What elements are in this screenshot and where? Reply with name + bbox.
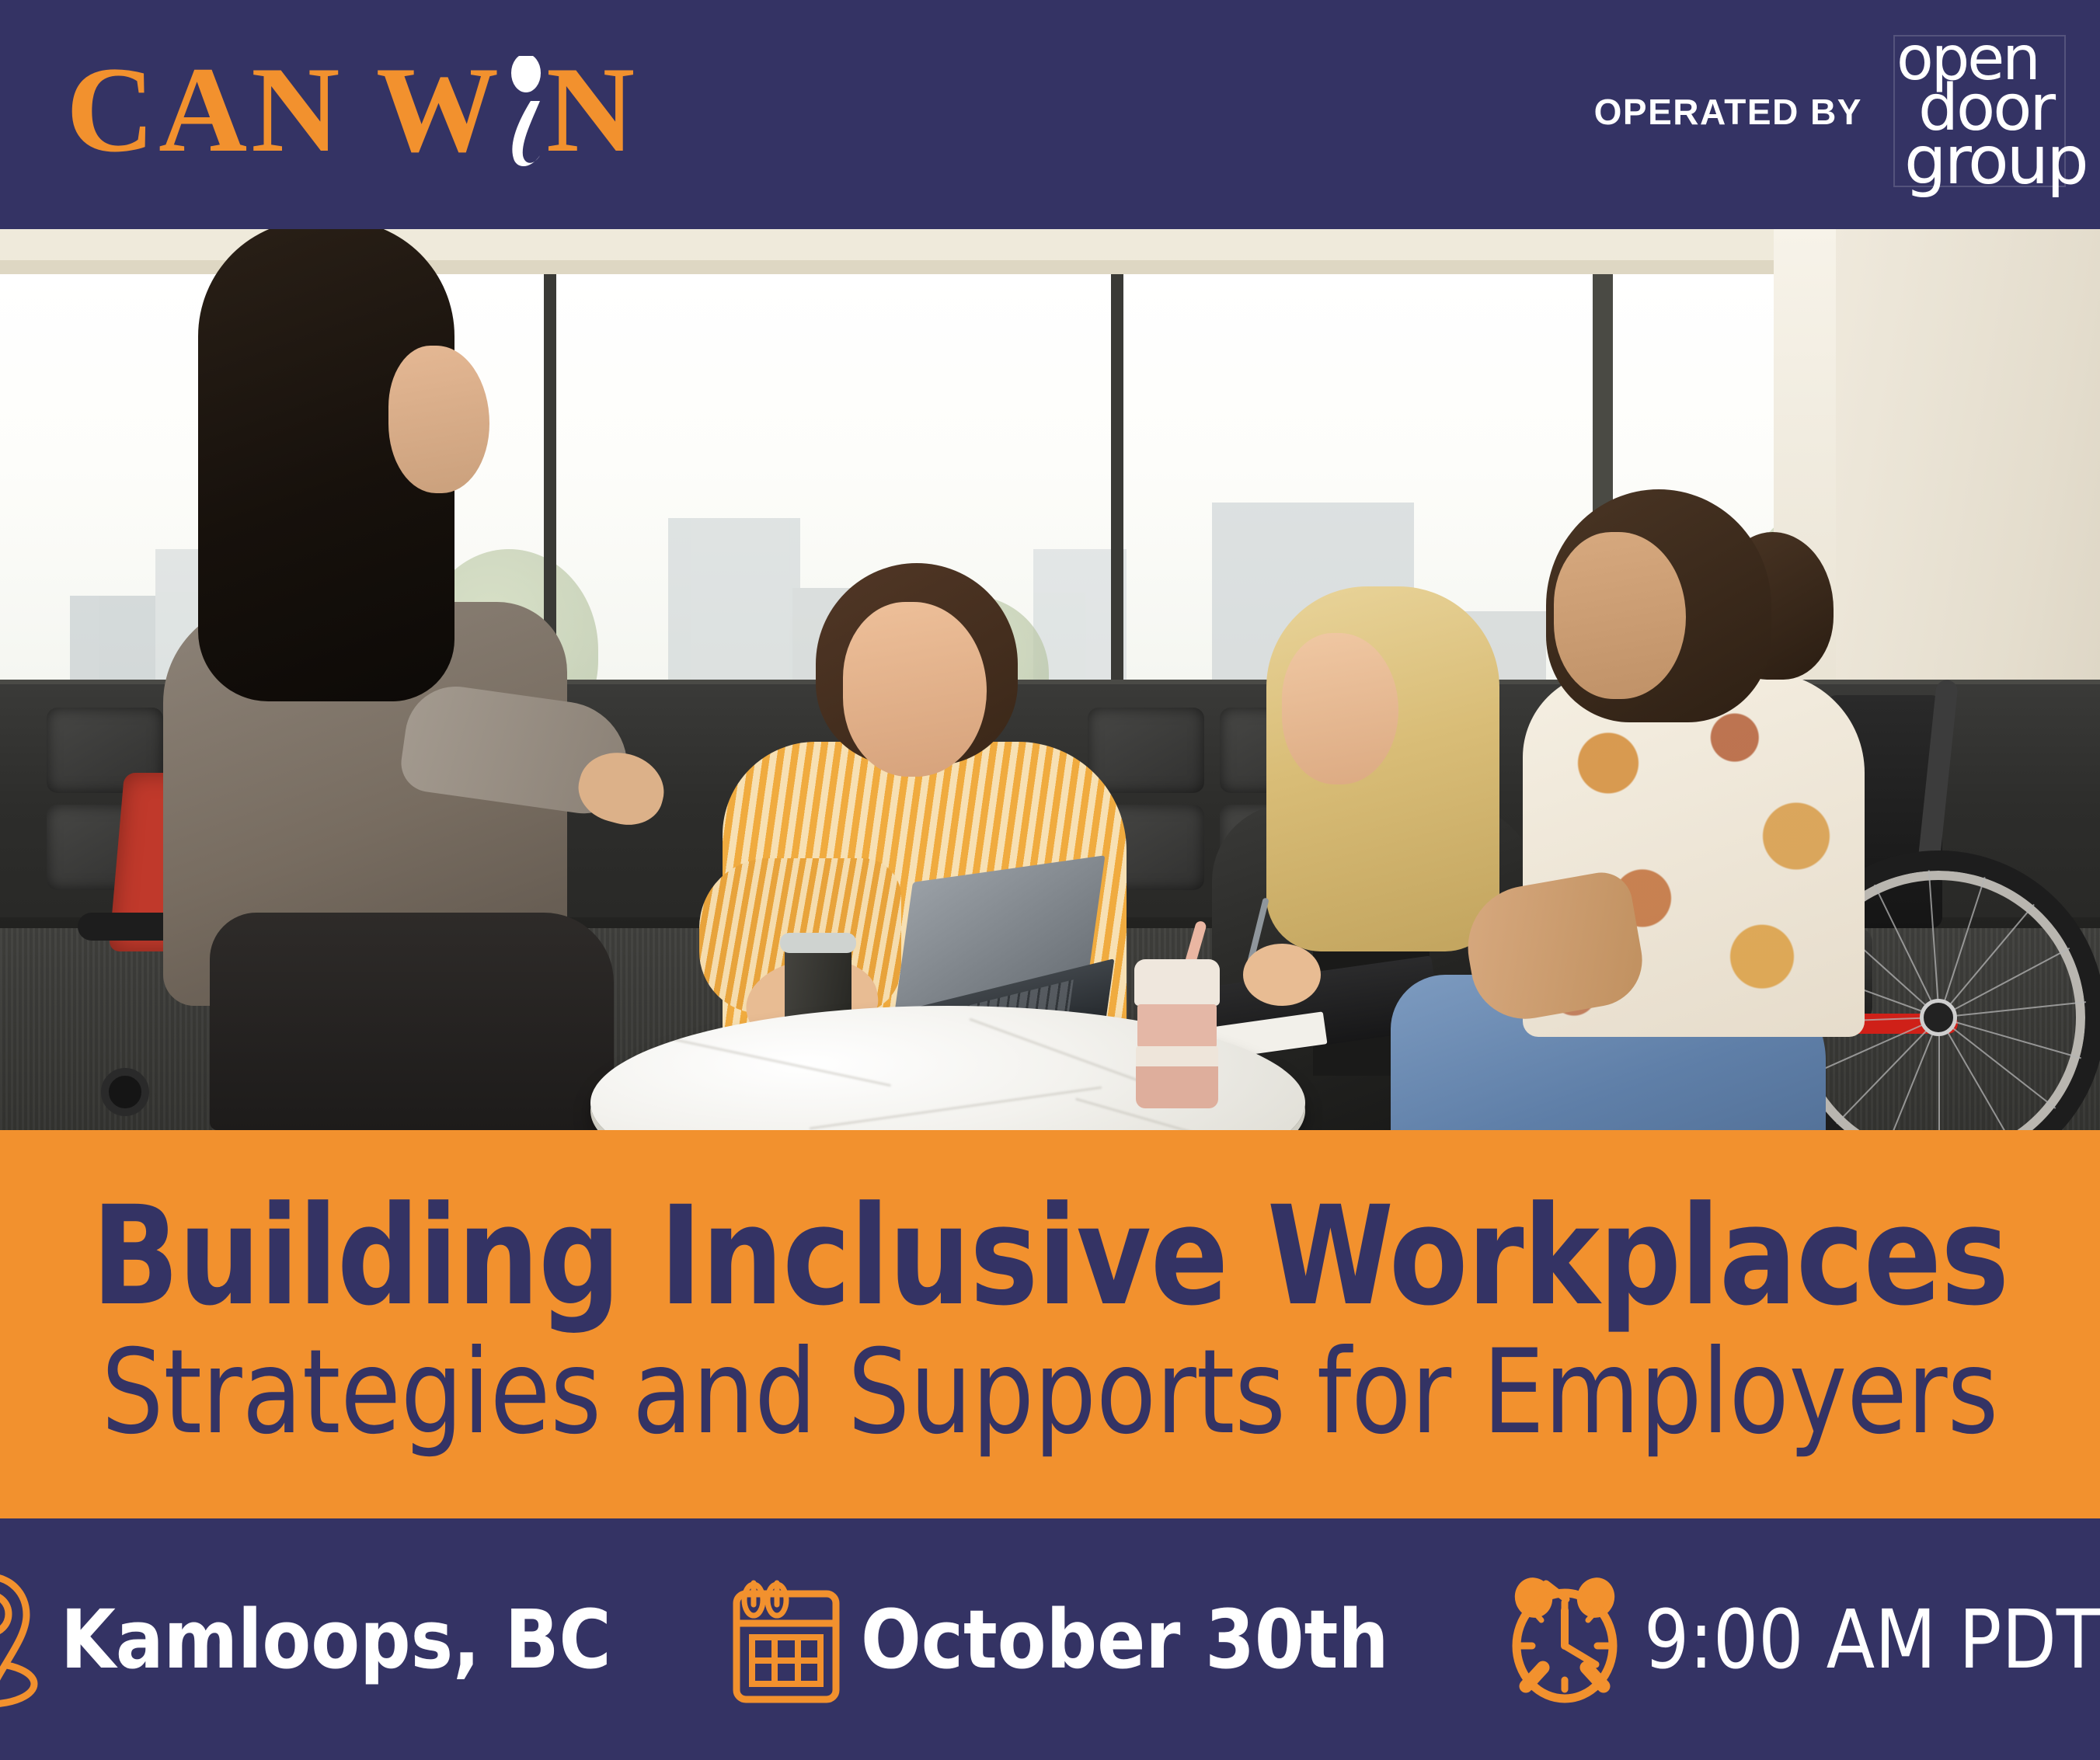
operated-by-block: OPERATED BY open door group <box>1594 24 2077 199</box>
event-poster: CAN WN OPERATED BY open door group <box>0 0 2100 1760</box>
poster-subtitle: Strategies and Supports for Employers <box>102 1331 1999 1455</box>
info-item-location: Kamloops, BC <box>0 1566 687 1713</box>
info-time-label: 9:00 AM PDT <box>1644 1599 2100 1680</box>
woman-1-legs <box>210 913 614 1130</box>
can-win-logo-text-part1: CAN W <box>66 49 503 172</box>
woman-3-hand <box>1243 944 1321 1006</box>
info-item-time: 9:00 AM PDT <box>1506 1571 2100 1708</box>
woman-2-face <box>843 602 987 777</box>
event-info-bar: Kamloops, BC October 30th <box>0 1518 2100 1760</box>
can-win-logo: CAN WN <box>66 48 639 172</box>
can-win-logo-text-part2: N <box>546 49 639 172</box>
info-date-label: October 30th <box>861 1599 1389 1680</box>
title-band: Building Inclusive Workplaces Strategies… <box>0 1130 2100 1518</box>
operated-by-label: OPERATED BY <box>1594 91 1862 133</box>
open-door-group-logo: open door group <box>1882 24 2077 199</box>
pink-collapsible-cup <box>1134 959 1220 1107</box>
odg-logo-line-group: group <box>1904 135 2087 187</box>
hero-photo-scene <box>0 229 2100 1130</box>
poster-header: CAN WN OPERATED BY open door group <box>0 0 2100 229</box>
alarm-clock-icon <box>1506 1571 1624 1708</box>
hero-photo <box>0 229 2100 1130</box>
calendar-icon <box>732 1574 841 1706</box>
info-item-date: October 30th <box>732 1574 1461 1706</box>
poster-title: Building Inclusive Workplaces <box>92 1188 2008 1325</box>
woman-3-face <box>1282 633 1398 784</box>
can-win-stylized-i-icon <box>495 56 551 180</box>
location-pin-icon <box>0 1566 40 1713</box>
woman-4-face <box>1554 532 1686 699</box>
info-location-label: Kamloops, BC <box>61 1599 611 1680</box>
